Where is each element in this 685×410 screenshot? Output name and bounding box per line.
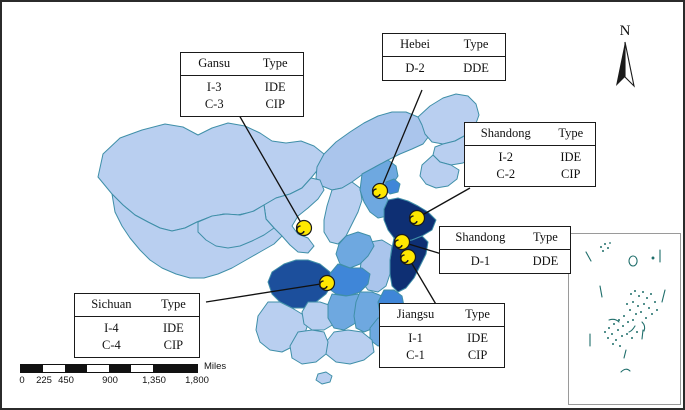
callout-sichuan: Sichuan Type I-4 IDE C-4 CIP bbox=[74, 293, 200, 358]
north-arrow-label: N bbox=[606, 24, 644, 39]
table-row: I-4 IDE bbox=[75, 317, 199, 337]
callout-shandong-ide-code-0: I-2 bbox=[465, 146, 547, 166]
table-row: D-2 DDE bbox=[383, 57, 505, 80]
scalebar-tick-900: 900 bbox=[102, 375, 118, 386]
callout-hebei: Hebei Type D-2 DDE bbox=[382, 33, 506, 81]
callout-sichuan-code-1: C-4 bbox=[75, 337, 148, 357]
leader-line-jiangsu bbox=[408, 257, 437, 306]
callout-gansu-type-header: Type bbox=[247, 53, 303, 76]
scalebar-ticks: 0 225 450 900 1,350 1,800 bbox=[20, 375, 200, 389]
scalebar-segment bbox=[21, 365, 43, 372]
callout-jiangsu-code-0: I-1 bbox=[380, 327, 451, 347]
province-hainan bbox=[316, 372, 332, 384]
callout-gansu-code-1: C-3 bbox=[181, 96, 247, 116]
callout-shandong-ide-code-1: C-2 bbox=[465, 166, 547, 186]
callout-hebei-type-header: Type bbox=[447, 34, 505, 57]
scalebar-tick-1800: 1,800 bbox=[185, 375, 209, 386]
table-row: C-1 CIP bbox=[380, 347, 504, 367]
callout-shandong-ide-type-0: IDE bbox=[547, 146, 595, 166]
scalebar-tick-1350: 1,350 bbox=[142, 375, 166, 386]
callout-gansu-type-0: IDE bbox=[247, 76, 303, 96]
marker-jiangsu[interactable] bbox=[401, 250, 416, 265]
callout-gansu-code-0: I-3 bbox=[181, 76, 247, 96]
callout-jiangsu-type-header: Type bbox=[451, 304, 504, 327]
callout-gansu: Gansu Type I-3 IDE C-3 CIP bbox=[180, 52, 304, 117]
callout-gansu-type-1: CIP bbox=[247, 96, 303, 116]
scalebar-segment bbox=[65, 365, 87, 372]
province-guangxi bbox=[290, 330, 328, 364]
callout-sichuan-type-header: Type bbox=[148, 294, 199, 317]
scalebar-tick-225: 225 bbox=[36, 375, 52, 386]
callout-shandong-ide-province: Shandong bbox=[465, 123, 547, 146]
callout-shandong-ide: Shandong Type I-2 IDE C-2 CIP bbox=[464, 122, 596, 187]
callout-jiangsu: Jiangsu Type I-1 IDE C-1 CIP bbox=[379, 303, 505, 368]
table-row: C-3 CIP bbox=[181, 96, 303, 116]
callout-hebei-code-0: D-2 bbox=[383, 57, 447, 80]
inset-map bbox=[568, 233, 681, 405]
callout-hebei-type-0: DDE bbox=[447, 57, 505, 80]
north-arrow: N bbox=[606, 24, 644, 92]
leader-line-shandong-ide bbox=[417, 188, 470, 218]
marker-hebei[interactable] bbox=[373, 184, 388, 199]
callout-jiangsu-province: Jiangsu bbox=[380, 304, 451, 327]
callout-shandong-dde-province: Shandong bbox=[440, 227, 521, 250]
callout-jiangsu-code-1: C-1 bbox=[380, 347, 451, 367]
inset-islands bbox=[569, 234, 680, 404]
marker-gansu[interactable] bbox=[297, 221, 312, 236]
callout-jiangsu-type-0: IDE bbox=[451, 327, 504, 347]
map-figure: Gansu Type I-3 IDE C-3 CIP Hebei bbox=[0, 0, 685, 410]
scalebar-tick-0: 0 bbox=[19, 375, 24, 386]
callout-sichuan-type-0: IDE bbox=[148, 317, 199, 337]
marker-shandong-1[interactable] bbox=[410, 211, 425, 226]
callout-shandong-ide-type-1: CIP bbox=[547, 166, 595, 186]
province-guangdong bbox=[326, 330, 374, 364]
callout-shandong-dde-code-0: D-1 bbox=[440, 250, 521, 273]
callout-gansu-province: Gansu bbox=[181, 53, 247, 76]
table-row: C-2 CIP bbox=[465, 166, 595, 186]
callout-jiangsu-type-1: CIP bbox=[451, 347, 504, 367]
marker-shandong-2[interactable] bbox=[395, 235, 410, 250]
callout-shandong-dde-type-0: DDE bbox=[521, 250, 570, 273]
scalebar-bar bbox=[20, 364, 198, 373]
callout-sichuan-province: Sichuan bbox=[75, 294, 148, 317]
scalebar-tick-450: 450 bbox=[58, 375, 74, 386]
scalebar-unit: Miles bbox=[204, 361, 226, 372]
table-row: C-4 CIP bbox=[75, 337, 199, 357]
marker-sichuan[interactable] bbox=[320, 276, 335, 291]
table-row: I-1 IDE bbox=[380, 327, 504, 347]
callout-shandong-ide-type-header: Type bbox=[547, 123, 595, 146]
table-row: I-3 IDE bbox=[181, 76, 303, 96]
scalebar-segment bbox=[153, 365, 197, 372]
table-row: I-2 IDE bbox=[465, 146, 595, 166]
north-arrow-icon bbox=[612, 40, 638, 88]
scalebar-segment bbox=[109, 365, 131, 372]
callout-hebei-province: Hebei bbox=[383, 34, 447, 57]
callout-sichuan-type-1: CIP bbox=[148, 337, 199, 357]
scalebar: 0 225 450 900 1,350 1,800 Miles bbox=[20, 364, 200, 389]
callout-shandong-dde-type-header: Type bbox=[521, 227, 570, 250]
table-row: D-1 DDE bbox=[440, 250, 570, 273]
callout-shandong-dde: Shandong Type D-1 DDE bbox=[439, 226, 571, 274]
callout-sichuan-code-0: I-4 bbox=[75, 317, 148, 337]
